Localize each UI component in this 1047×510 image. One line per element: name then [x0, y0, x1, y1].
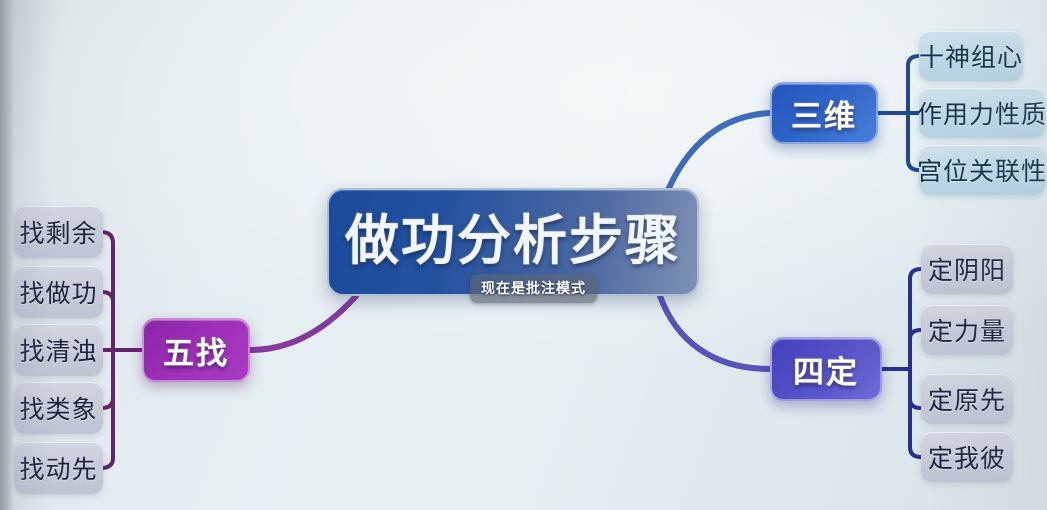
leaf-node-wuzhao-4[interactable]: 找动先 — [14, 442, 103, 494]
leaf-node-wuzhao-3[interactable]: 找类象 — [14, 382, 103, 434]
annotation-mode-label: 现在是批注模式 — [481, 280, 586, 296]
leaf-label: 找动先 — [19, 450, 97, 486]
connector-root-siding — [660, 296, 770, 369]
mindmap-canvas: 做功分析步骤 现在是批注模式 五找 找剩余 找做功 找清浊 找类象 找动先 三维… — [0, 0, 1047, 510]
leaf-label: 找做功 — [19, 274, 97, 310]
leaf-node-wuzhao-2[interactable]: 找清浊 — [14, 324, 103, 376]
leaf-label: 定我彼 — [928, 439, 1006, 475]
branch-node-siding[interactable]: 四定 — [770, 337, 882, 401]
branch-node-wuzhao[interactable]: 五找 — [142, 318, 250, 382]
leaf-label: 宫位关联性 — [917, 152, 1047, 188]
leaf-label: 十神组心 — [919, 38, 1023, 74]
leaf-node-siding-0[interactable]: 定阴阳 — [921, 244, 1013, 294]
connector-root-wuzhao — [250, 296, 356, 350]
leaf-label: 找类象 — [19, 390, 97, 426]
leaf-node-sanwei-2[interactable]: 宫位关联性 — [919, 145, 1045, 195]
annotation-mode-badge: 现在是批注模式 — [470, 274, 597, 303]
leaf-node-wuzhao-0[interactable]: 找剩余 — [14, 206, 103, 258]
leaf-label: 找清浊 — [19, 332, 97, 368]
leaf-node-wuzhao-1[interactable]: 找做功 — [14, 266, 103, 318]
leaf-node-siding-1[interactable]: 定力量 — [921, 305, 1013, 355]
leaf-label: 定原先 — [928, 381, 1006, 417]
root-label: 做功分析步骤 — [345, 196, 681, 275]
leaf-label: 定力量 — [928, 312, 1006, 348]
connector-root-sanwei — [668, 113, 770, 190]
leaf-node-sanwei-0[interactable]: 十神组心 — [919, 31, 1023, 81]
branch-label-wuzhao: 五找 — [163, 328, 229, 373]
leaf-label: 作用力性质 — [917, 95, 1047, 131]
leaf-label: 定阴阳 — [928, 251, 1006, 287]
branch-label-sanwei: 三维 — [791, 91, 857, 136]
branch-label-siding: 四定 — [793, 347, 859, 392]
leaf-node-sanwei-1[interactable]: 作用力性质 — [919, 88, 1045, 138]
leaf-node-siding-3[interactable]: 定我彼 — [921, 432, 1013, 482]
leaf-label: 找剩余 — [19, 214, 97, 250]
branch-node-sanwei[interactable]: 三维 — [770, 82, 878, 144]
leaf-node-siding-2[interactable]: 定原先 — [921, 374, 1013, 424]
